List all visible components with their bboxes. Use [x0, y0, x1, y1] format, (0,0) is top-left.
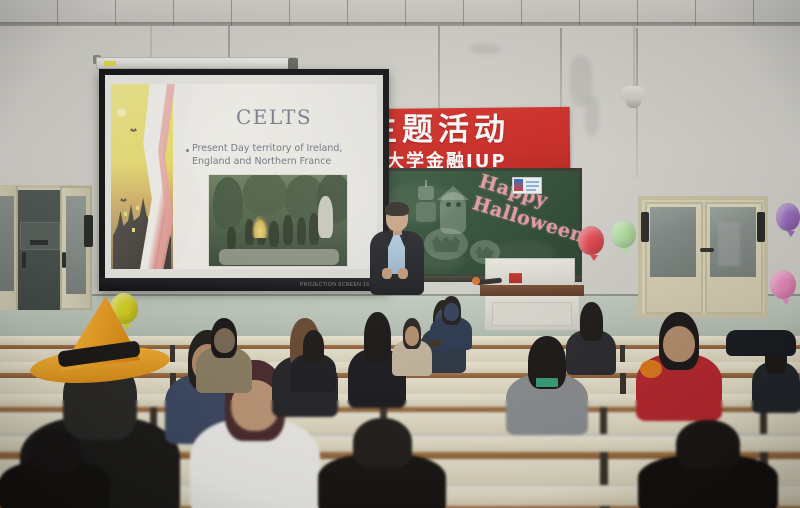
- slide-illustration-fire: [252, 216, 268, 238]
- left-door-handle-b[interactable]: [62, 252, 66, 268]
- person-head: [444, 303, 459, 321]
- chalk-pumpkin-large-face: [432, 236, 460, 252]
- person-head: [367, 324, 389, 355]
- podium-front-panel: [492, 302, 572, 326]
- green-notebook[interactable]: [536, 378, 558, 387]
- podium-desktop: [480, 285, 584, 296]
- podium-back-panel: [485, 258, 575, 288]
- slide-castle-window-4: [132, 228, 135, 232]
- person-head: [405, 326, 419, 346]
- board-notice-line-1: [526, 181, 539, 183]
- ceiling-speaker-right-dome: [626, 97, 641, 108]
- slide-bullet-marker: [186, 149, 189, 152]
- presenter-hand-right: [398, 268, 408, 279]
- orange-pumpkin-prop: [640, 360, 662, 378]
- balloon-green: [611, 220, 636, 248]
- balloon-purple: [776, 203, 800, 231]
- desk-gap: [600, 407, 607, 434]
- chalk-ghost-eye-right: [456, 202, 461, 207]
- speaker-cord-right: [633, 26, 635, 88]
- backpack-on-desk[interactable]: [726, 330, 796, 356]
- student-front-center: [318, 418, 446, 508]
- slide-title: CELTS: [236, 104, 356, 130]
- slide-illustration-druid: [318, 196, 333, 238]
- screen-housing-label: [104, 61, 116, 66]
- left-door-glass-b: [66, 196, 86, 294]
- student-long-hair-left: [196, 318, 252, 390]
- corridor-reflection: [718, 222, 740, 266]
- right-door-hinge-right: [757, 212, 765, 242]
- person-head: [305, 338, 322, 358]
- right-door-glass-left: [650, 207, 696, 277]
- lecture-hall-photo: 主题活动 经大学金融IUP Happy Halloween CELTS Pre: [0, 0, 800, 508]
- left-door-glass-a: [0, 196, 14, 291]
- student-beige-jacket: [290, 330, 336, 390]
- right-door-handle[interactable]: [700, 248, 714, 252]
- desk-gap: [620, 345, 625, 363]
- desk-gap: [620, 373, 626, 396]
- person-head: [35, 440, 76, 467]
- person-head: [663, 326, 695, 362]
- slide-castle-window-1: [124, 212, 127, 216]
- student-front-left: [0, 430, 110, 508]
- microphone-head-icon: [472, 277, 480, 285]
- desk-gap: [600, 452, 608, 485]
- board-notice-line-3: [526, 189, 536, 191]
- wall-smudge: [585, 96, 599, 136]
- wall-smudge: [470, 44, 500, 54]
- chalk-robot-head: [418, 186, 434, 200]
- presenter-hand-left: [382, 268, 392, 279]
- slide-castle-window-2: [136, 206, 139, 210]
- balloon-pink: [770, 270, 796, 299]
- person-head: [214, 328, 235, 353]
- person-head: [682, 432, 733, 462]
- chalk-ghost-eye-left: [446, 202, 451, 207]
- person-head: [582, 311, 600, 335]
- slide-moon-icon: [117, 108, 126, 117]
- screen-roller-housing: [96, 57, 296, 69]
- balloon-red: [578, 226, 604, 255]
- right-door-hinge-left: [641, 212, 649, 242]
- person-head: [359, 430, 406, 461]
- student-front-right: [638, 420, 778, 508]
- student-mid-right-a: [566, 302, 616, 372]
- phone-on-desk[interactable]: [430, 340, 442, 347]
- slide-bullet-text: Present Day territory of Ireland, Englan…: [192, 142, 370, 172]
- screen-bottom-bar-label: PROJECTION SCREEN 16:9: [300, 281, 380, 289]
- wall-control-box[interactable]: [20, 222, 60, 250]
- wall-control-box-slot: [30, 240, 48, 245]
- student-left-edge: [392, 318, 432, 374]
- banner-title-line: 主题活动: [366, 110, 566, 150]
- presenter-hair: [385, 202, 409, 216]
- chalk-robot-body: [416, 202, 436, 222]
- board-notice-badge-icon: [514, 179, 523, 191]
- board-notice-line-2: [526, 185, 539, 187]
- left-door-hinge: [84, 215, 93, 247]
- left-door-handle-a[interactable]: [22, 252, 26, 268]
